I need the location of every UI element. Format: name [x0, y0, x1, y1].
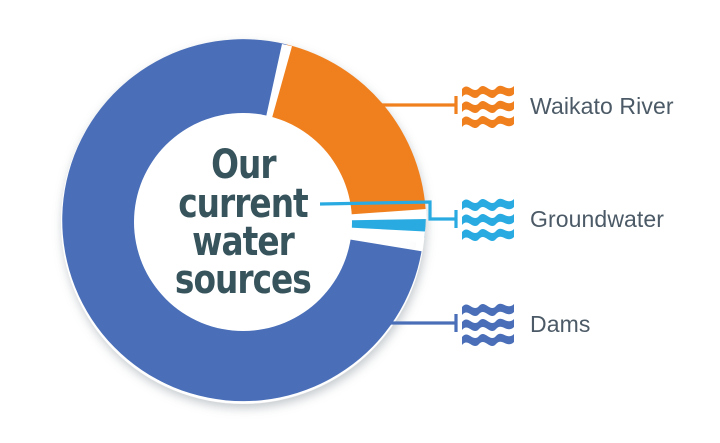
water-waves-icon: [462, 193, 514, 245]
legend-item-groundwater[interactable]: Groundwater: [462, 193, 664, 245]
donut-hole: [134, 113, 352, 331]
legend-label-groundwater: Groundwater: [530, 206, 664, 233]
legend-label-dams: Dams: [530, 311, 590, 338]
donut-chart: Our current water sources: [0, 0, 450, 443]
legend-label-waikato-river: Waikato River: [530, 93, 674, 120]
legend-item-waikato-river[interactable]: Waikato River: [462, 80, 674, 132]
donut-chart-svg: [0, 0, 450, 443]
water-sources-infographic: Our current water sources Waikato: [0, 0, 720, 443]
legend-item-dams[interactable]: Dams: [462, 298, 590, 350]
water-waves-icon: [462, 80, 514, 132]
water-waves-icon: [462, 298, 514, 350]
